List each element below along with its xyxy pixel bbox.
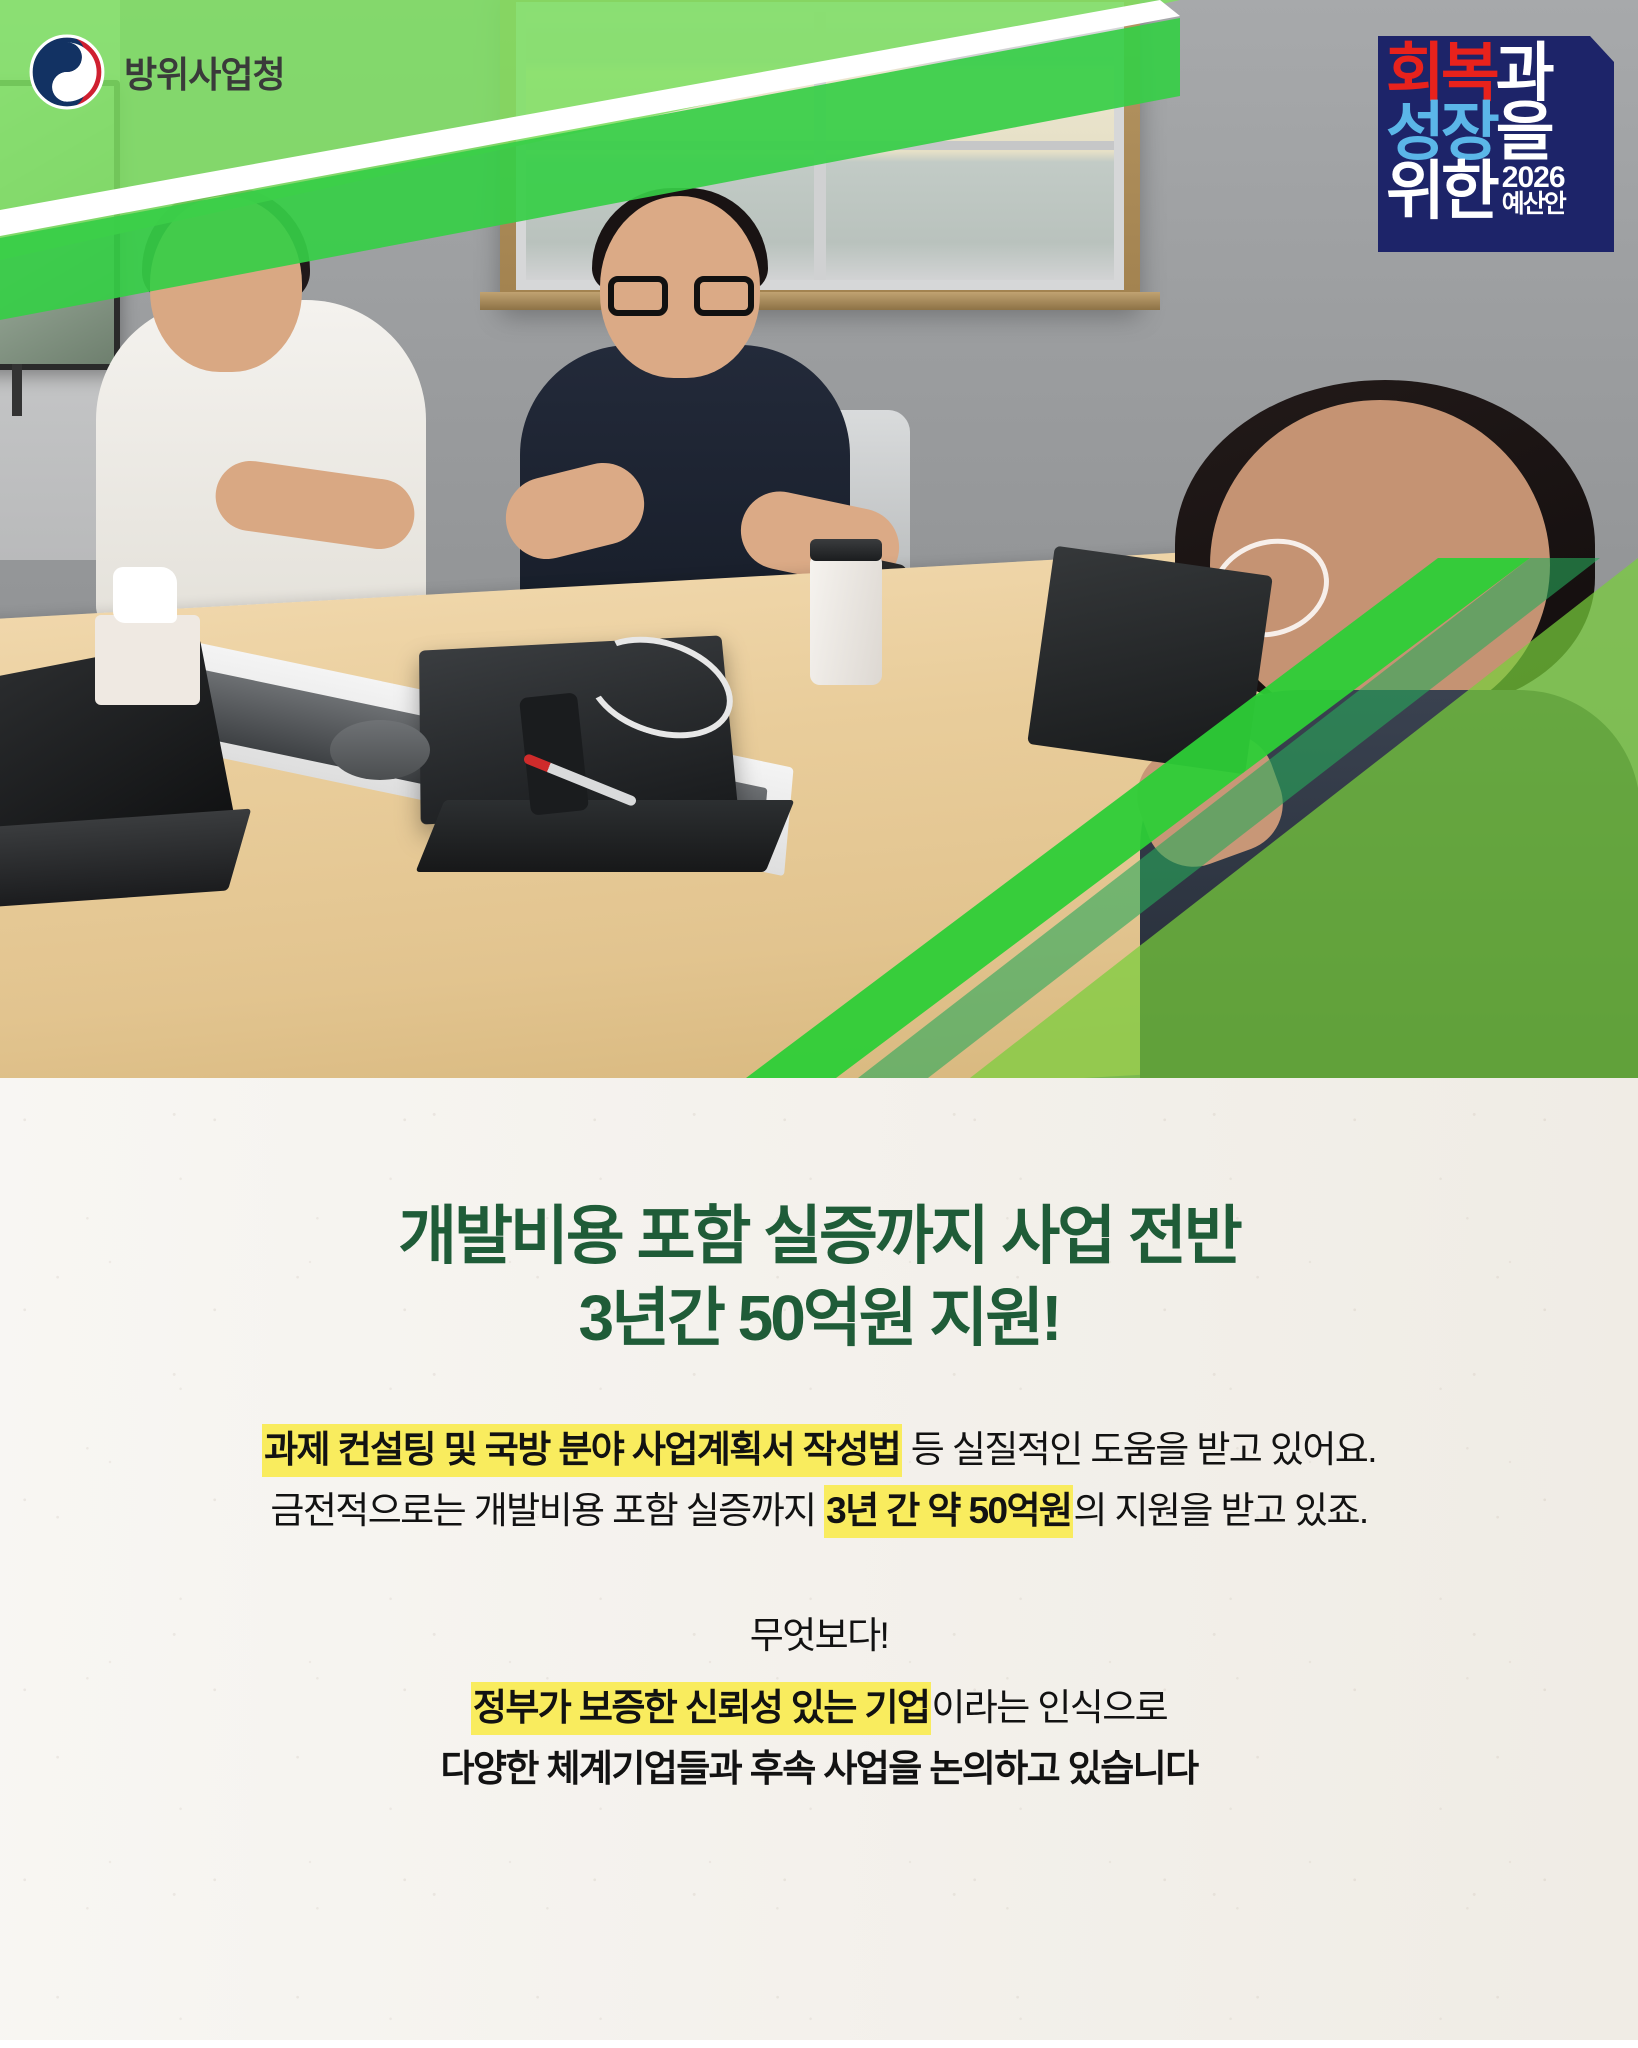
highlight-trusted-company: 정부가 보증한 신뢰성 있는 기업	[471, 1682, 931, 1735]
page-title: 개발비용 포함 실증까지 사업 전반 3년간 50억원 지원!	[0, 1196, 1638, 1360]
badge-year-label: 예산안	[1502, 193, 1565, 217]
conference-speaker	[330, 720, 430, 780]
body-paragraph-1: 과제 컨설팅 및 국방 분야 사업계획서 작성법 등 실질적인 도움을 받고 있…	[0, 1431, 1638, 1468]
tumbler-cup	[810, 555, 882, 685]
organization-name: 방위사업청	[124, 46, 285, 98]
window-sill	[480, 292, 1160, 310]
body-paragraph-4: 정부가 보증한 신뢰성 있는 기업이라는 인식으로	[0, 1689, 1638, 1726]
badge-word-recovery: 회복	[1386, 44, 1496, 103]
budget-campaign-badge: 회복 과 성장 을 위한 2026 예산안	[1378, 36, 1614, 252]
badge-year-number: 2026	[1502, 164, 1565, 193]
brand-lockup: 방위사업청	[28, 33, 285, 111]
highlight-consulting: 과제 컨설팅 및 국방 분야 사업계획서 작성법	[262, 1424, 902, 1477]
korea-government-taeguk-icon	[28, 33, 106, 111]
badge-line-1: 회복 과	[1386, 44, 1604, 103]
body-paragraph-3: 무엇보다!	[0, 1605, 1638, 1659]
body-paragraph-2-pre: 금전적으로는 개발비용 포함 실증까지	[270, 1490, 824, 1531]
badge-particle-2: 을	[1496, 103, 1551, 162]
paragraph-spacer	[0, 1553, 1638, 1605]
body-paragraph-4-rest: 이라는 인식으로	[931, 1687, 1167, 1728]
laptop-center-keyboard	[415, 800, 794, 872]
badge-word-growth: 성장	[1386, 103, 1496, 162]
body-paragraph-2-post: 의 지원을 받고 있죠.	[1073, 1490, 1367, 1531]
headline-line-1: 개발비용 포함 실증까지 사업 전반	[0, 1196, 1638, 1278]
highlight-funding-amount: 3년 간 약 50억원	[824, 1485, 1073, 1538]
glasses-icon	[608, 276, 754, 316]
bottom-edge	[0, 2040, 1638, 2048]
headline-line-2: 3년간 50억원 지원!	[0, 1278, 1638, 1360]
body-paragraph-5: 다양한 체계기업들과 후속 사업을 논의하고 있습니다	[0, 1750, 1638, 1787]
badge-word-for: 위한	[1386, 162, 1496, 221]
body-paragraph-1-rest: 등 실질적인 도움을 받고 있어요.	[902, 1429, 1376, 1470]
body-paragraph-2: 금전적으로는 개발비용 포함 실증까지 3년 간 약 50억원의 지원을 받고 …	[0, 1492, 1638, 1529]
text-section: 개발비용 포함 실증까지 사업 전반 3년간 50억원 지원! 과제 컨설팅 및…	[0, 1078, 1638, 2048]
badge-line-2: 성장 을	[1386, 103, 1604, 162]
badge-year-block: 2026 예산안	[1502, 164, 1565, 216]
body-copy: 과제 컨설팅 및 국방 분야 사업계획서 작성법 등 실질적인 도움을 받고 있…	[0, 1431, 1638, 1811]
badge-line-3: 위한 2026 예산안	[1386, 162, 1604, 221]
hero-photo: 방위사업청 회복 과 성장 을 위한 2026 예산안	[0, 0, 1638, 1078]
tissue-box	[95, 615, 200, 705]
badge-particle-1: 과	[1496, 44, 1551, 103]
card-news-page: 방위사업청 회복 과 성장 을 위한 2026 예산안 개발비용 포함 실	[0, 0, 1638, 2048]
